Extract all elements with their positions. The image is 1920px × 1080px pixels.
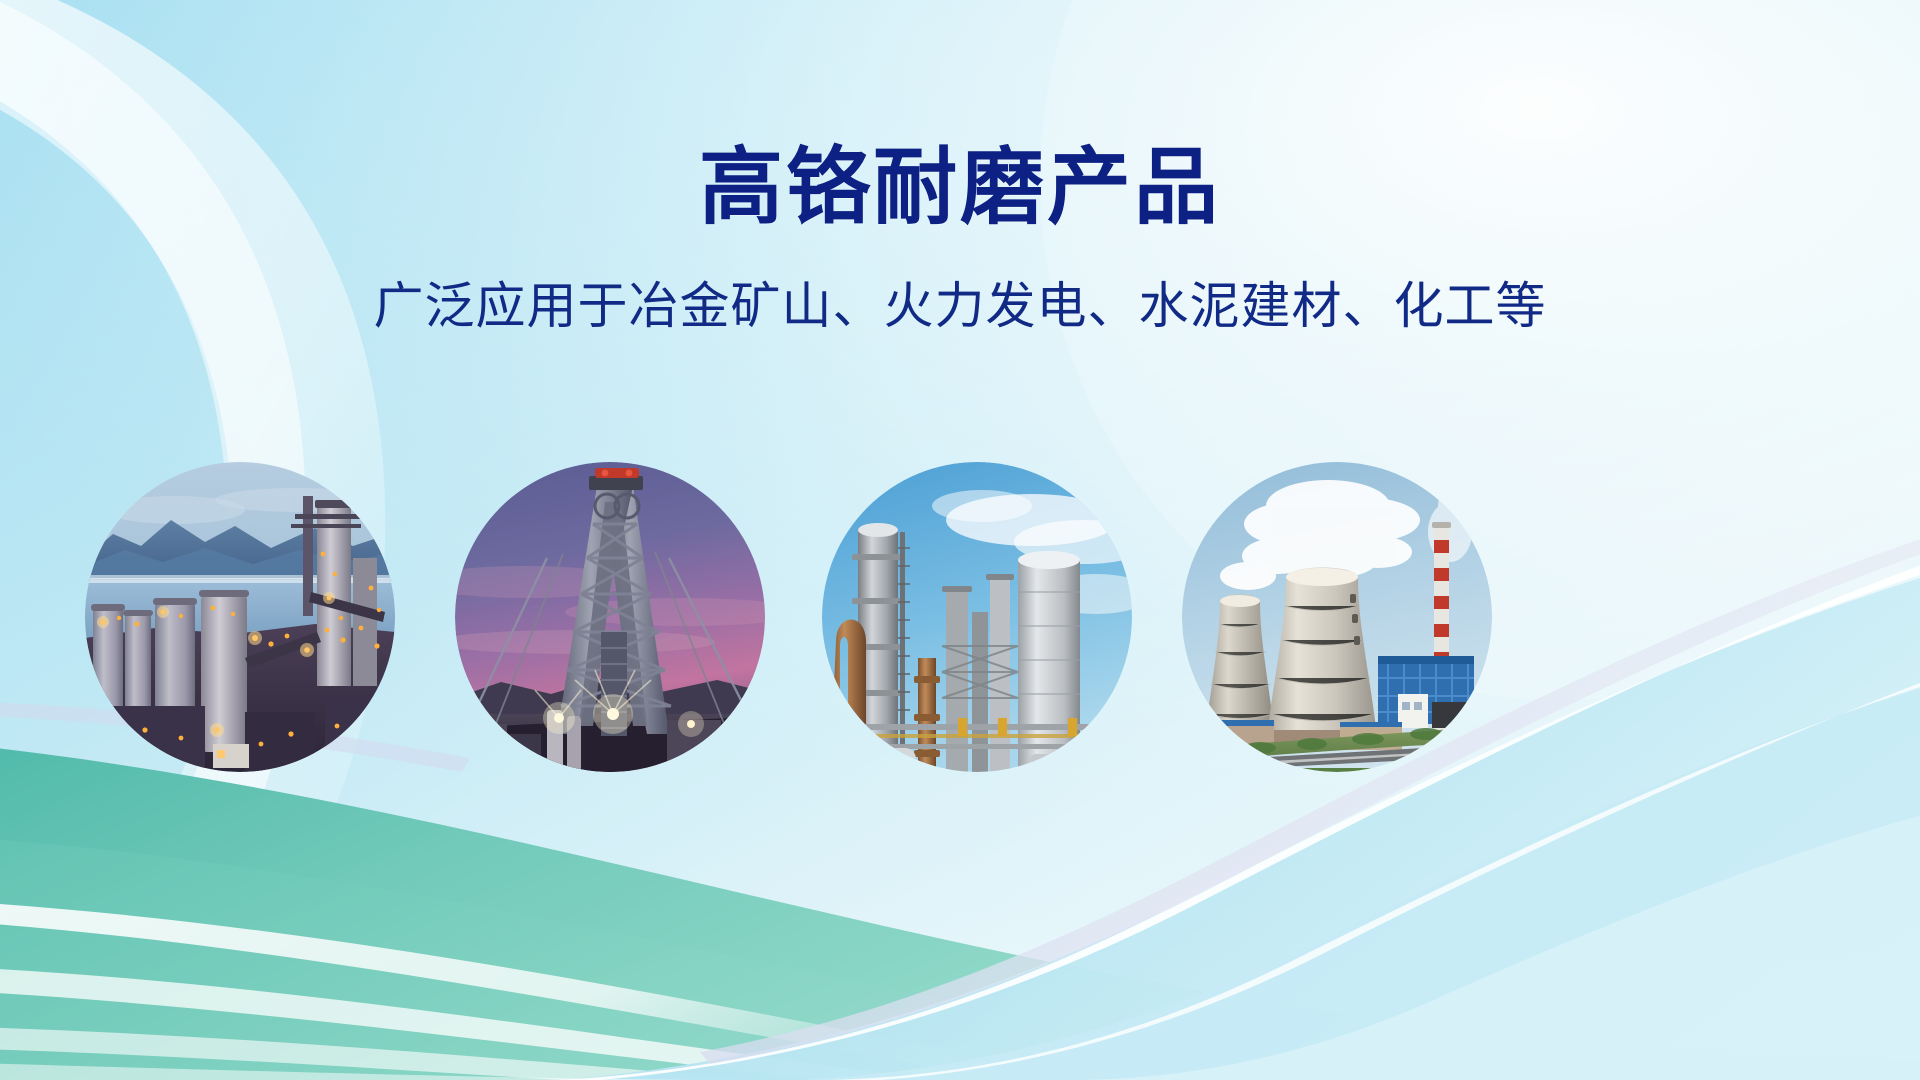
industry-photo-row [0,462,1920,802]
banner-text-block: 高铬耐磨产品 广泛应用于冶金矿山、火力发电、水泥建材、化工等 [0,142,1920,337]
page-title: 高铬耐磨产品 [0,142,1920,233]
photo-circle-power-plant [1182,462,1492,772]
photo-circle-chemical-refinery [822,462,1132,772]
promo-banner: 高铬耐磨产品 广泛应用于冶金矿山、火力发电、水泥建材、化工等 [0,0,1920,1080]
page-subtitle: 广泛应用于冶金矿山、火力发电、水泥建材、化工等 [0,275,1920,338]
mine-headframe-scene [455,462,765,772]
chemical-refinery-scene [822,462,1132,772]
photo-circle-mine-headframe [455,462,765,772]
cement-plant-scene [85,462,395,772]
power-plant-scene [1182,462,1492,772]
photo-circle-cement-plant [85,462,395,772]
